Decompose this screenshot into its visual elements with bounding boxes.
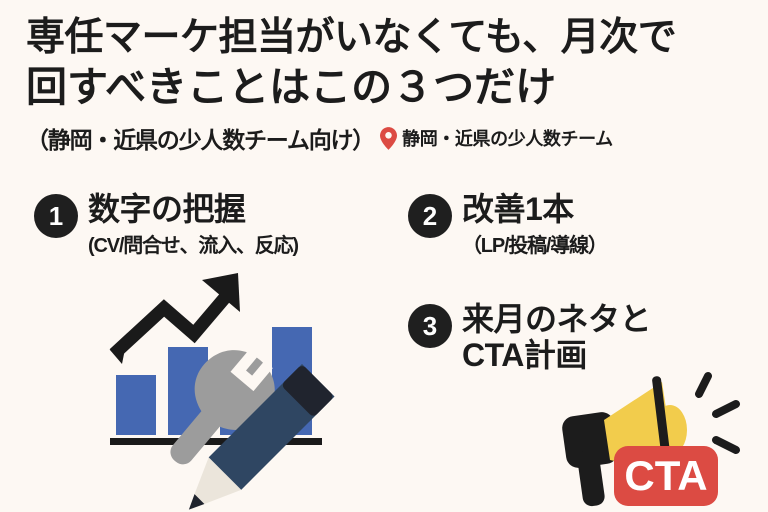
list-item-3: 3 来月のネタと CTA計画: [408, 302, 651, 374]
item-1-title: 数字の把握: [88, 192, 298, 228]
cta-badge-text: CTA: [624, 452, 707, 499]
headline-line-2: 回すべきことはこの３つだけ: [26, 62, 746, 113]
list-item-1: 1 数字の把握 (CV/問合せ、流入、反応): [34, 192, 298, 258]
item-2-text: 改善1本 （LP/投稿/導線）: [462, 192, 607, 258]
location-tag: 静岡・近県の少人数チーム: [380, 125, 613, 151]
item-1-number-badge: 1: [34, 194, 78, 238]
header: 専任マーケ担当がいなくても、月次で 回すべきことはこの３つだけ （静岡・近県の少…: [26, 14, 746, 155]
item-2-number-badge: 2: [408, 194, 452, 238]
item-3-number-badge: 3: [408, 304, 452, 348]
item-2-subtitle: （LP/投稿/導線）: [462, 229, 607, 258]
cta-badge: CTA: [614, 446, 718, 506]
item-1-subtitle: (CV/問合せ、流入、反応): [88, 229, 298, 258]
infographic-canvas: 専任マーケ担当がいなくても、月次で 回すべきことはこの３つだけ （静岡・近県の少…: [0, 0, 768, 512]
growth-chart-wrench-pencil-illustration: [110, 272, 410, 502]
location-pin-icon: [380, 127, 397, 150]
item-1-text: 数字の把握 (CV/問合せ、流入、反応): [88, 192, 298, 258]
item-3-title-line-1: 来月のネタと: [462, 302, 651, 338]
headline-line-1: 専任マーケ担当がいなくても、月次で: [26, 14, 746, 62]
item-3-text: 来月のネタと CTA計画: [462, 302, 651, 374]
subtitle-row: （静岡・近県の少人数チーム向け） 静岡・近県の少人数チーム: [26, 121, 746, 155]
location-pin-label: 静岡・近県の少人数チーム: [402, 125, 613, 151]
megaphone-cta-illustration: CTA: [530, 368, 768, 512]
list-item-2: 2 改善1本 （LP/投稿/導線）: [408, 192, 607, 258]
megaphone-sound-lines: [699, 376, 736, 450]
subtitle-text: （静岡・近県の少人数チーム向け）: [26, 121, 374, 155]
item-2-title: 改善1本: [462, 192, 607, 228]
